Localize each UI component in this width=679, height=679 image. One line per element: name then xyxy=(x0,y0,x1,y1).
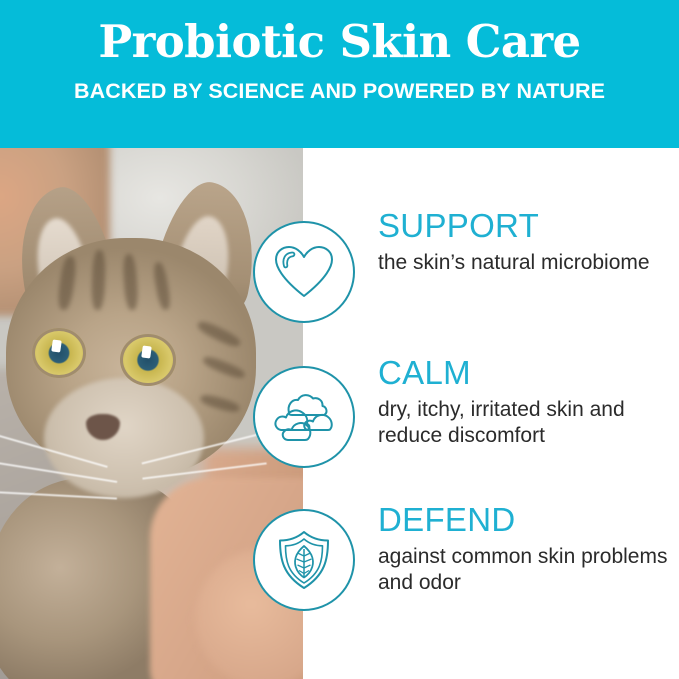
feature-text-defend: DEFEND against common skin problems and … xyxy=(378,503,678,597)
cat-eye-left xyxy=(32,328,86,378)
cat-eye-highlight-right xyxy=(141,345,152,358)
cat-eye-right xyxy=(120,334,176,386)
feature-title-support: SUPPORT xyxy=(378,209,650,242)
feature-icon-circle-calm xyxy=(253,366,355,468)
cat-muzzle xyxy=(44,378,204,498)
feature-icon-circle-support xyxy=(253,221,355,323)
shield-leaf-icon xyxy=(273,529,335,591)
feature-desc-defend: against common skin problems and odor xyxy=(378,544,678,597)
header-banner: Probiotic Skin Care BACKED BY SCIENCE AN… xyxy=(0,0,679,148)
cat-eye-highlight-left xyxy=(51,339,62,352)
feature-text-calm: CALM dry, itchy, irritated skin and redu… xyxy=(378,356,678,450)
probiotic-skin-care-infographic: Probiotic Skin Care BACKED BY SCIENCE AN… xyxy=(0,0,679,679)
clouds-icon xyxy=(272,391,336,443)
feature-title-defend: DEFEND xyxy=(378,503,678,536)
feature-title-calm: CALM xyxy=(378,356,678,389)
page-subtitle: BACKED BY SCIENCE AND POWERED BY NATURE xyxy=(74,79,605,104)
heart-icon xyxy=(273,244,335,300)
page-title: Probiotic Skin Care xyxy=(98,18,580,65)
feature-desc-calm: dry, itchy, irritated skin and reduce di… xyxy=(378,397,678,450)
feature-desc-support: the skin’s natural microbiome xyxy=(378,250,650,276)
feature-text-support: SUPPORT the skin’s natural microbiome xyxy=(378,209,650,276)
feature-icon-circle-defend xyxy=(253,509,355,611)
